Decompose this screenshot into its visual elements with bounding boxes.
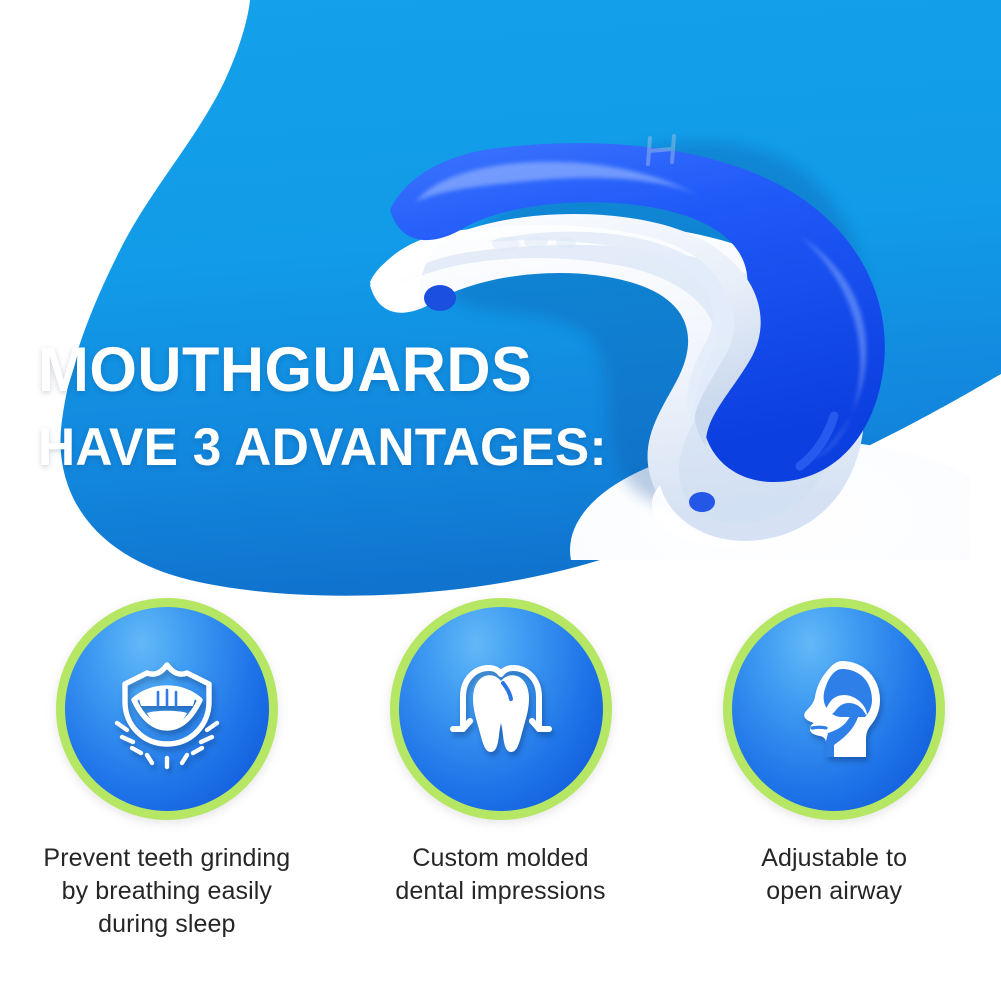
feature-caption-1: Prevent teeth grinding by breathing easi… [2, 842, 332, 941]
mouth-teeth-icon [103, 645, 231, 773]
headline-line-1: MOUTHGUARDS [38, 336, 698, 404]
headline: MOUTHGUARDS HAVE 3 ADVANTAGES: [38, 336, 718, 478]
mouthguard-product-image [330, 30, 970, 560]
caption-line: Adjustable to [669, 842, 999, 875]
feature-row: Prevent teeth grinding by breathing easi… [0, 598, 1001, 958]
head-airway-icon [770, 645, 898, 773]
caption-line: Custom molded [336, 842, 666, 875]
feature-caption-3: Adjustable to open airway [669, 842, 999, 908]
feature-badge-1 [56, 598, 278, 820]
infographic-canvas: MOUTHGUARDS HAVE 3 ADVANTAGES: [0, 0, 1001, 1001]
headline-line-2: HAVE 3 ADVANTAGES: [38, 418, 698, 478]
feature-badge-3 [723, 598, 945, 820]
caption-line: by breathing easily [2, 875, 332, 908]
feature-badge-2 [390, 598, 612, 820]
feature-item-prevent-grinding: Prevent teeth grinding by breathing easi… [0, 598, 334, 958]
caption-line: Prevent teeth grinding [2, 842, 332, 875]
feature-item-open-airway: Adjustable to open airway [667, 598, 1001, 958]
feature-item-custom-molded: Custom molded dental impressions [334, 598, 668, 958]
caption-line: open airway [669, 875, 999, 908]
feature-caption-2: Custom molded dental impressions [336, 842, 666, 908]
tooth-mold-icon [437, 645, 565, 773]
caption-line: dental impressions [336, 875, 666, 908]
caption-line: during sleep [2, 908, 332, 941]
